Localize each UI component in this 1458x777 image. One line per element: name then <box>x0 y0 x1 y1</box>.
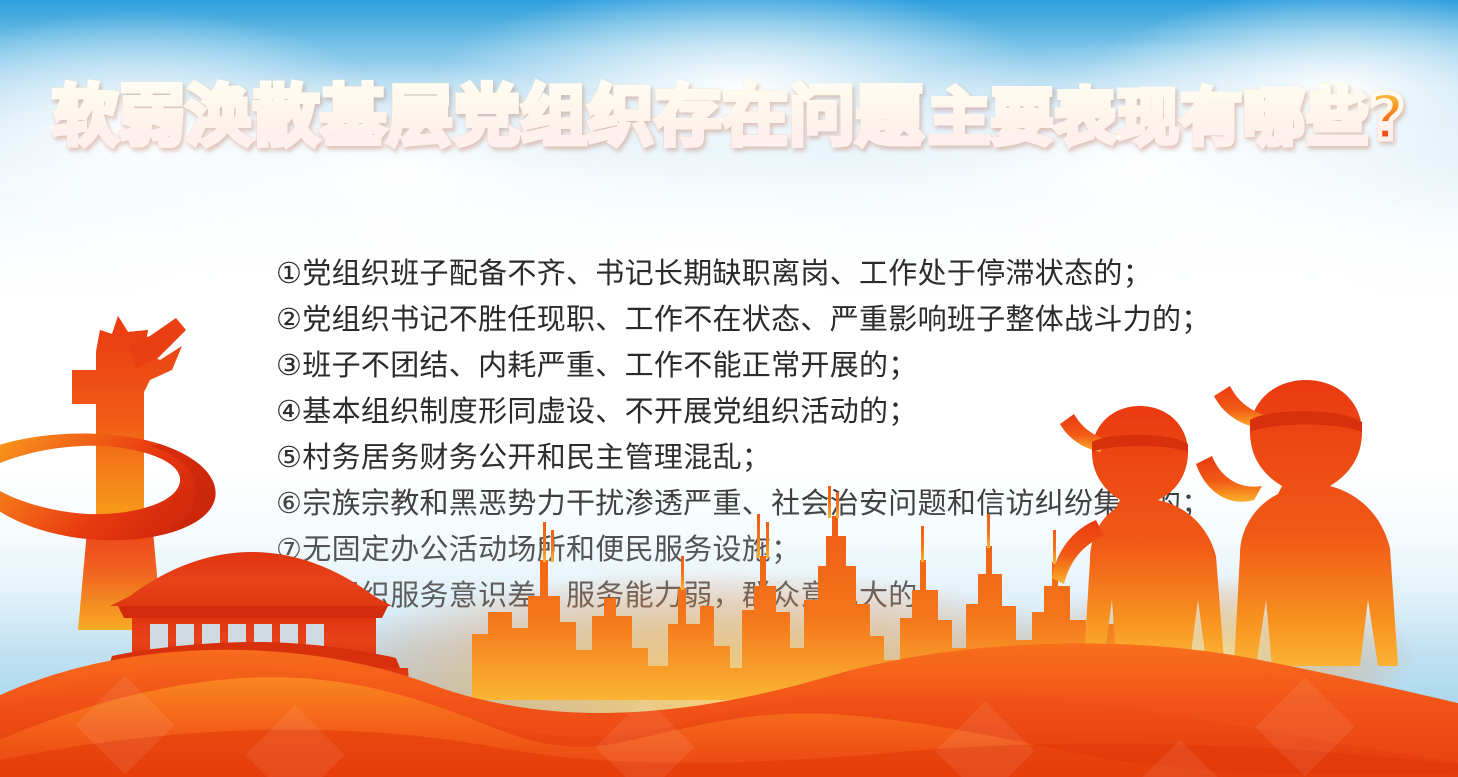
sky-background <box>0 0 1458 777</box>
poster-canvas: 软弱涣散基层党组织存在问题 主要表现有哪些? ①党组织班子配备不齐、书记长期缺职… <box>0 0 1458 777</box>
